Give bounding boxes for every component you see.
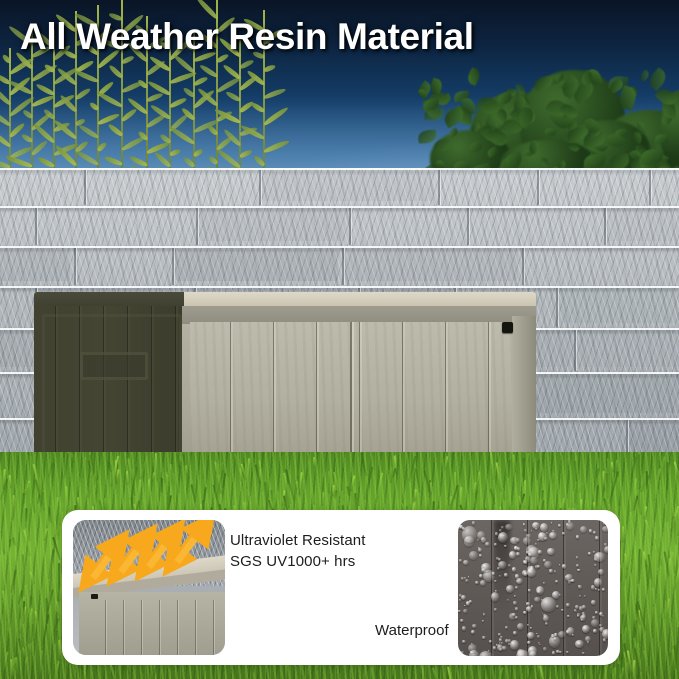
stone-joint bbox=[172, 248, 174, 285]
water-droplet bbox=[515, 607, 518, 611]
water-droplet bbox=[591, 619, 599, 627]
uv-resistance-illustration bbox=[73, 520, 225, 655]
stone-joint bbox=[604, 208, 606, 245]
water-droplet bbox=[585, 636, 591, 643]
water-droplet bbox=[566, 603, 570, 607]
water-droplet bbox=[574, 609, 577, 612]
water-droplet bbox=[599, 627, 605, 632]
stone-joint bbox=[574, 330, 576, 371]
water-droplet bbox=[602, 588, 606, 591]
water-droplet bbox=[603, 638, 606, 641]
water-droplet bbox=[534, 597, 540, 602]
water-droplet bbox=[479, 651, 493, 656]
water-droplet bbox=[508, 564, 512, 567]
water-droplet bbox=[535, 528, 537, 530]
shed-front-doors bbox=[190, 322, 520, 466]
water-droplet bbox=[566, 523, 569, 525]
water-droplet bbox=[547, 548, 554, 554]
stone-block-shade bbox=[199, 210, 345, 241]
stone-joint bbox=[438, 170, 440, 205]
water-droplet bbox=[552, 651, 555, 655]
uv-feature-text: Ultraviolet Resistant SGS UV1000+ hrs bbox=[230, 530, 480, 572]
stone-joint bbox=[342, 248, 344, 285]
water-droplet bbox=[598, 569, 603, 575]
water-droplet bbox=[505, 524, 513, 530]
water-droplet bbox=[492, 572, 495, 574]
water-droplet bbox=[584, 595, 586, 597]
stone-joint bbox=[467, 208, 469, 245]
water-droplet bbox=[602, 526, 608, 533]
water-droplet bbox=[576, 556, 578, 558]
grass-blade bbox=[56, 612, 58, 629]
water-droplet bbox=[595, 536, 599, 540]
water-droplet bbox=[516, 538, 520, 542]
stone-joint bbox=[522, 248, 524, 285]
grass-blade bbox=[617, 477, 620, 506]
water-droplet bbox=[468, 644, 476, 653]
water-droplet bbox=[538, 550, 542, 554]
grass-blade bbox=[115, 460, 117, 481]
water-droplet bbox=[549, 569, 553, 573]
uv-ray-arrows-icon bbox=[73, 520, 225, 655]
grass-blade bbox=[665, 507, 668, 522]
water-droplet bbox=[598, 589, 600, 591]
storage-shed bbox=[34, 292, 536, 475]
water-droplet bbox=[471, 630, 475, 634]
water-droplet bbox=[595, 588, 597, 590]
water-droplet bbox=[483, 613, 485, 615]
stone-joint bbox=[649, 170, 651, 205]
water-droplet bbox=[526, 602, 530, 606]
bush-leaf bbox=[542, 158, 549, 167]
shed-side-panel bbox=[34, 306, 184, 475]
water-droplet bbox=[529, 651, 537, 656]
water-droplet bbox=[496, 644, 498, 646]
water-droplet bbox=[479, 554, 482, 557]
grass-blade bbox=[313, 457, 315, 468]
water-droplet bbox=[588, 552, 591, 555]
water-droplet bbox=[504, 573, 508, 576]
water-droplet bbox=[593, 629, 597, 633]
grass-blade bbox=[125, 665, 127, 679]
stone-block-shade bbox=[262, 172, 434, 201]
stone-joint bbox=[74, 248, 76, 285]
grass-blade bbox=[622, 526, 624, 543]
water-droplet bbox=[502, 646, 506, 650]
water-droplet bbox=[594, 578, 602, 587]
water-droplet bbox=[512, 613, 516, 616]
water-droplet bbox=[524, 529, 528, 532]
water-droplet bbox=[513, 631, 517, 635]
water-droplet bbox=[591, 600, 595, 605]
shed-latch-icon bbox=[502, 322, 513, 333]
water-droplet bbox=[577, 569, 580, 572]
grass-blade bbox=[328, 471, 330, 494]
water-droplet bbox=[461, 577, 464, 580]
water-droplet bbox=[458, 610, 460, 612]
waterproof-label: Waterproof bbox=[375, 622, 449, 639]
water-droplet bbox=[594, 558, 597, 561]
stone-course-line bbox=[0, 246, 679, 248]
water-droplet bbox=[567, 615, 569, 617]
water-droplet bbox=[496, 557, 499, 560]
stone-block-shade bbox=[0, 250, 70, 281]
water-droplet bbox=[544, 561, 551, 568]
grass-blade bbox=[630, 562, 632, 573]
water-droplet bbox=[506, 585, 514, 593]
water-droplet bbox=[579, 595, 581, 597]
water-droplet bbox=[504, 545, 506, 547]
water-droplet bbox=[589, 529, 592, 532]
water-droplet bbox=[540, 523, 548, 532]
water-droplet bbox=[527, 568, 535, 577]
grass-blade bbox=[602, 471, 604, 490]
shed-door-seam bbox=[350, 322, 352, 466]
water-droplet bbox=[508, 639, 511, 643]
shed-front-panel bbox=[182, 306, 536, 475]
stone-block-shade bbox=[607, 210, 679, 241]
stone-joint bbox=[537, 170, 539, 205]
water-droplet bbox=[465, 579, 468, 582]
water-droplet bbox=[482, 620, 484, 622]
stone-joint bbox=[349, 208, 351, 245]
uv-feature-line1: Ultraviolet Resistant bbox=[230, 530, 480, 551]
stone-course-line bbox=[0, 286, 679, 288]
stone-block-shade bbox=[528, 376, 679, 413]
waterproof-illustration bbox=[458, 520, 608, 656]
stone-course-line bbox=[0, 206, 679, 208]
water-droplet bbox=[575, 605, 579, 609]
uv-feature-line2: SGS UV1000+ hrs bbox=[230, 551, 480, 572]
grass-blade bbox=[58, 563, 60, 589]
water-droplet bbox=[541, 597, 555, 611]
stone-block-shade bbox=[577, 332, 679, 367]
water-droplet bbox=[462, 640, 466, 643]
grass-blade bbox=[75, 473, 77, 504]
stone-course-line bbox=[0, 168, 679, 170]
water-droplet bbox=[462, 626, 466, 631]
water-droplet bbox=[501, 642, 504, 644]
stone-joint bbox=[259, 170, 261, 205]
water-droplet bbox=[505, 626, 508, 629]
water-droplet bbox=[507, 599, 509, 601]
stone-joint bbox=[196, 208, 198, 245]
water-droplet bbox=[460, 619, 464, 623]
water-droplet bbox=[461, 651, 464, 654]
water-droplet bbox=[558, 524, 561, 527]
stone-block-shade bbox=[559, 290, 676, 323]
feature-card: Ultraviolet Resistant SGS UV1000+ hrs Wa… bbox=[62, 510, 620, 665]
water-droplet bbox=[572, 634, 574, 636]
water-droplet bbox=[513, 601, 517, 605]
water-droplet bbox=[493, 646, 497, 650]
water-droplet bbox=[515, 574, 519, 578]
water-droplet bbox=[469, 551, 477, 560]
water-droplet bbox=[478, 548, 482, 552]
water-droplet bbox=[463, 560, 469, 565]
water-droplet bbox=[528, 553, 531, 556]
water-droplet bbox=[485, 542, 489, 546]
shed-side-handle bbox=[80, 352, 148, 380]
corn-stalk bbox=[238, 40, 242, 185]
water-droplet bbox=[576, 535, 580, 538]
water-droplet bbox=[494, 580, 496, 582]
water-droplet bbox=[554, 633, 557, 637]
corn-stalk bbox=[8, 48, 12, 185]
water-droplet bbox=[591, 585, 595, 590]
water-droplet bbox=[481, 563, 491, 572]
grass-blade bbox=[547, 663, 549, 678]
water-droplet bbox=[580, 615, 585, 621]
water-droplet bbox=[516, 552, 520, 556]
water-droplet bbox=[537, 590, 541, 594]
water-droplet bbox=[494, 543, 496, 545]
wood-grain-texture bbox=[190, 322, 520, 466]
water-droplet bbox=[576, 564, 579, 567]
grass-blade bbox=[441, 459, 443, 468]
water-droplet bbox=[559, 651, 561, 653]
water-droplet bbox=[499, 529, 502, 532]
stone-joint bbox=[556, 288, 558, 327]
water-droplet bbox=[578, 585, 580, 587]
water-droplet bbox=[510, 640, 518, 650]
water-droplet bbox=[512, 567, 516, 571]
grass-blade bbox=[659, 608, 662, 617]
grass-blade bbox=[30, 615, 32, 643]
water-droplet bbox=[562, 532, 565, 535]
grass-blade bbox=[614, 667, 616, 679]
water-droplet bbox=[517, 649, 525, 656]
water-droplet bbox=[472, 521, 475, 525]
water-droplet bbox=[526, 606, 532, 611]
water-droplet bbox=[527, 641, 531, 644]
water-droplet bbox=[562, 564, 566, 568]
stone-block-shade bbox=[345, 250, 518, 281]
water-droplet bbox=[593, 531, 596, 534]
stone-block-shade bbox=[175, 250, 337, 281]
grass-blade bbox=[9, 539, 11, 548]
stone-joint bbox=[84, 170, 86, 205]
water-droplet bbox=[556, 580, 558, 583]
water-droplet bbox=[514, 546, 518, 550]
page-title: All Weather Resin Material bbox=[20, 16, 474, 58]
water-droplet bbox=[582, 652, 585, 655]
stone-joint bbox=[35, 208, 37, 245]
water-droplet bbox=[537, 539, 539, 542]
water-droplet bbox=[543, 647, 547, 652]
water-droplet bbox=[523, 523, 525, 525]
product-feature-image: All Weather Resin Material bbox=[0, 0, 679, 679]
grass-blade bbox=[166, 474, 168, 495]
